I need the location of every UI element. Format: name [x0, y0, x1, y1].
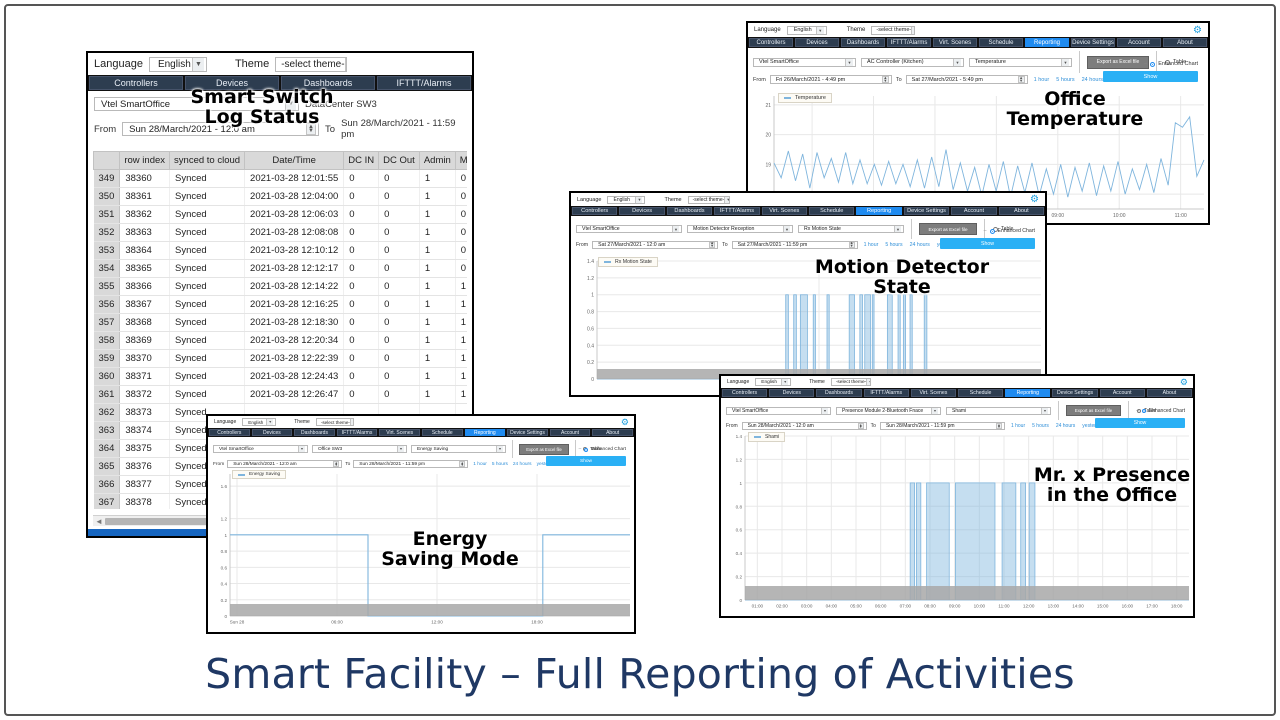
svg-text:1: 1	[591, 293, 594, 299]
legend-label: Energy Saving	[249, 472, 280, 477]
svg-text:19: 19	[765, 162, 771, 168]
col-synced[interactable]: synced to cloud	[170, 152, 245, 170]
tab-schedule[interactable]: Schedule	[422, 429, 463, 436]
quick-5-hours[interactable]: 5 hours	[1056, 77, 1074, 83]
controller-select[interactable]: Vtel SmartOffice ▼	[576, 225, 682, 233]
table-cell: 38377	[120, 476, 170, 494]
table-cell: 0	[344, 188, 379, 206]
chevron-down-icon: ▼	[192, 58, 204, 71]
row-number-cell: 357	[94, 314, 120, 332]
table-cell: 0	[455, 188, 467, 206]
svg-text:17:00: 17:00	[1146, 604, 1158, 609]
table-cell: 2021-03-28 12:04:00	[245, 188, 344, 206]
chart-legend: Temperature	[778, 93, 832, 103]
svg-text:Sun 28: Sun 28	[230, 620, 245, 625]
table-cell: 0	[379, 188, 420, 206]
radio-dot	[990, 229, 995, 234]
table-cell: 0	[344, 386, 379, 404]
energy-window-filters: Vtel SmartOffice ▼ Office SW3 ▼ Energy S…	[208, 437, 634, 472]
table-row[interactable]: 36038371Synced2021-03-28 12:24:430011	[94, 368, 468, 386]
table-cell: 1	[419, 386, 455, 404]
row-number-cell: 366	[94, 476, 120, 494]
svg-text:05:00: 05:00	[850, 604, 862, 609]
to-datetime-input[interactable]: Sat 27/March/2021 - 11:59 pm ▲▼	[732, 241, 858, 249]
svg-text:15:00: 15:00	[1097, 604, 1109, 609]
tab-about[interactable]: About	[1147, 389, 1192, 397]
tab-dashboards[interactable]: Dashboards	[667, 207, 712, 215]
legend-label: Temperature	[795, 95, 826, 101]
svg-text:18:00: 18:00	[1171, 604, 1183, 609]
tab-controllers[interactable]: Controllers	[209, 429, 250, 436]
theme-label: Theme	[809, 379, 825, 385]
tab-account[interactable]: Account	[550, 429, 591, 436]
from-label: From	[726, 423, 738, 429]
from-stepper[interactable]: ▲▼	[709, 242, 715, 248]
table-cell: 1	[455, 350, 467, 368]
metric-select[interactable]: Rx Motion State ▼	[798, 225, 904, 233]
to-value: Sun 28/March/2021 - 11:59 pm	[341, 118, 466, 140]
chart-legend: Shami	[748, 432, 785, 442]
table-row[interactable]: 35038361Synced2021-03-28 12:04:000010	[94, 188, 468, 206]
to-datetime-input[interactable]: Sat 27/March/2021 - 5:49 pm ▲▼	[906, 75, 1028, 84]
table-cell: 38360	[120, 170, 170, 188]
theme-value: -select theme-	[278, 59, 344, 70]
gear-icon[interactable]: ⚙	[1180, 377, 1188, 388]
chart-legend: Energy Saving	[232, 470, 286, 479]
row-number-cell: 352	[94, 224, 120, 242]
col-middle-row[interactable]: Middle Row	[455, 152, 467, 170]
table-cell: 0	[344, 278, 379, 296]
language-label: Language	[727, 379, 749, 385]
tab-devices[interactable]: Devices	[252, 429, 293, 436]
table-row[interactable]: 35538366Synced2021-03-28 12:14:220011	[94, 278, 468, 296]
table-cell: 1	[419, 368, 455, 386]
to-value: Sat 27/March/2021 - 11:59 pm	[735, 242, 808, 248]
tab-account[interactable]: Account	[1117, 38, 1161, 47]
col-datetime[interactable]: Date/Time	[245, 152, 344, 170]
quick-24-hours[interactable]: 24 hours	[1082, 77, 1103, 83]
from-datetime-input[interactable]: Sat 27/March/2021 - 12:0 am ▲▼	[592, 241, 718, 249]
svg-text:14:00: 14:00	[1072, 604, 1084, 609]
table-row[interactable]: 35638367Synced2021-03-28 12:16:250011	[94, 296, 468, 314]
controller-value: Vtel SmartOffice	[729, 408, 768, 414]
to-stepper[interactable]: ▲▼	[459, 461, 465, 467]
table-cell: 0	[344, 242, 379, 260]
to-datetime-input[interactable]: Sun 28/March/2021 - 11:59 pm ▲▼	[880, 422, 1005, 430]
from-datetime-input[interactable]: Sun 28/March/2021 - 12:0 am ▲▼	[742, 422, 867, 430]
divider	[512, 440, 513, 458]
tab-dashboards[interactable]: Dashboards	[841, 38, 885, 47]
table-cell: 0	[379, 350, 420, 368]
temp-selectors-row: Vtel SmartOffice ▼ AC Controller (Kitche…	[753, 51, 1203, 73]
export-excel-button[interactable]: Export as Excel file	[519, 444, 569, 455]
table-cell: 0	[455, 170, 467, 188]
legend-label: Shami	[765, 434, 779, 440]
table-cell: 0	[455, 206, 467, 224]
table-cell: 1	[419, 188, 455, 206]
legend-line-swatch	[784, 97, 791, 99]
table-row[interactable]: 35238363Synced2021-03-28 12:08:080010	[94, 224, 468, 242]
table-cell: 38367	[120, 296, 170, 314]
theme-value: -select theme-	[834, 380, 866, 385]
row-number-cell: 367	[94, 494, 120, 510]
language-select[interactable]: English ▼	[149, 57, 207, 72]
from-datetime-input[interactable]: Fri 26/March/2021 - 4:49 pm ▲▼	[770, 75, 892, 84]
table-cell: Synced	[170, 170, 245, 188]
tab-about[interactable]: About	[592, 429, 633, 436]
table-cell: 38371	[120, 368, 170, 386]
table-cell: 0	[379, 206, 420, 224]
from-label: From	[576, 242, 588, 248]
metric-select[interactable]: Temperature ▼	[969, 58, 1072, 67]
from-value: Sat 27/March/2021 - 12:0 am	[595, 242, 665, 248]
row-number-cell: 349	[94, 170, 120, 188]
quick-24-hours[interactable]: 24 hours	[513, 462, 532, 467]
quick-5-hours[interactable]: 5 hours	[1032, 423, 1049, 429]
col-blank[interactable]	[94, 152, 120, 170]
log-table-head: row index synced to cloud Date/Time DC I…	[94, 152, 468, 170]
tab-schedule[interactable]: Schedule	[979, 38, 1023, 47]
device-select[interactable]: Motion Detector Reception ▼	[687, 225, 793, 233]
table-cell: 1	[455, 386, 467, 404]
svg-text:10:00: 10:00	[1113, 213, 1126, 219]
theme-value: -select theme-	[319, 420, 350, 425]
callout-energy-saving: Energy Saving Mode	[370, 530, 530, 570]
tab-virt-scenes[interactable]: Virt. Scenes	[379, 429, 420, 436]
tab-virt-scenes[interactable]: Virt. Scenes	[762, 207, 807, 215]
export-excel-button[interactable]: Export as Excel file	[1087, 56, 1149, 69]
tab-about[interactable]: About	[1163, 38, 1207, 47]
table-cell: Synced	[170, 332, 245, 350]
to-stepper[interactable]: ▲▼	[996, 423, 1002, 429]
radio-dot	[1150, 62, 1155, 67]
quick-1-hour[interactable]: 1 hour	[1034, 77, 1050, 83]
tab-controllers[interactable]: Controllers	[572, 207, 617, 215]
tab-controllers[interactable]: Controllers	[749, 38, 793, 47]
tab-virt-scenes[interactable]: Virt. Scenes	[911, 389, 956, 397]
tab-ifttt-alarms[interactable]: IFTTT/Alarms	[377, 76, 471, 90]
from-stepper[interactable]: ▲▼	[882, 76, 889, 83]
language-label: Language	[214, 419, 236, 425]
from-label: From	[753, 77, 766, 83]
chevron-down-icon: ▼	[821, 408, 828, 414]
show-button[interactable]: Show	[546, 456, 626, 466]
tab-dashboards[interactable]: Dashboards	[294, 429, 335, 436]
language-value: English	[610, 197, 629, 203]
radio-enhanced-chart[interactable]: – Enhanced Chart	[579, 447, 626, 452]
col-dc-out[interactable]: DC Out	[379, 152, 420, 170]
table-row[interactable]: 35338364Synced2021-03-28 12:10:120010	[94, 242, 468, 260]
motion-window-navbar: ControllersDevicesDashboardsIFTTT/Alarms…	[571, 206, 1045, 216]
from-value: Sun 28/March/2021 - 12:0 am	[745, 423, 814, 429]
tab-reporting[interactable]: Reporting	[465, 429, 506, 436]
table-cell: 2021-03-28 12:26:47	[245, 386, 344, 404]
col-admin[interactable]: Admin	[419, 152, 455, 170]
to-datetime-input[interactable]: Sun 28/March/2021 - 11:59 pm ▲▼	[353, 460, 468, 468]
col-dc-in[interactable]: DC IN	[344, 152, 379, 170]
table-cell: Synced	[170, 296, 245, 314]
chevron-down-icon: ▼	[931, 408, 938, 414]
chevron-down-icon: ▼	[1041, 408, 1048, 414]
language-value: English	[245, 420, 263, 425]
table-cell: Synced	[170, 278, 245, 296]
svg-text:0: 0	[739, 598, 742, 603]
svg-text:0: 0	[224, 614, 227, 619]
tab-about[interactable]: About	[999, 207, 1044, 215]
table-cell: 0	[379, 386, 420, 404]
svg-text:0.8: 0.8	[587, 310, 594, 316]
tab-devices[interactable]: Devices	[619, 207, 664, 215]
table-cell: 0	[344, 260, 379, 278]
table-cell: 38373	[120, 404, 170, 422]
controller-value: Vtel SmartOffice	[216, 447, 254, 452]
tab-ifttt-alarms[interactable]: IFTTT/Alarms	[337, 429, 378, 436]
tab-account[interactable]: Account	[951, 207, 996, 215]
radio-dot	[1142, 409, 1146, 413]
language-select[interactable]: English ▼	[755, 378, 791, 386]
gear-icon[interactable]: ⚙	[1030, 194, 1039, 205]
controller-select[interactable]: Vtel SmartOffice ▼	[726, 407, 831, 415]
svg-text:18:00: 18:00	[531, 620, 543, 625]
tab-ifttt-alarms[interactable]: IFTTT/Alarms	[714, 207, 759, 215]
svg-text:01:00: 01:00	[752, 604, 764, 609]
table-row[interactable]: 35938370Synced2021-03-28 12:22:390011	[94, 350, 468, 368]
metric-select[interactable]: Shami ▼	[946, 407, 1051, 415]
language-value: English	[152, 59, 191, 70]
table-row[interactable]: 35438365Synced2021-03-28 12:12:170010	[94, 260, 468, 278]
tab-account[interactable]: Account	[1100, 389, 1145, 397]
tab-schedule[interactable]: Schedule	[809, 207, 854, 215]
legend-label: Rx Motion State	[615, 259, 652, 265]
svg-text:09:00: 09:00	[1052, 213, 1065, 219]
quick-1-hour[interactable]: 1 hour	[473, 462, 487, 467]
theme-select[interactable]: -select theme- ▼	[871, 26, 915, 35]
table-cell: Synced	[170, 350, 245, 368]
table-cell: 38365	[120, 260, 170, 278]
table-cell: 2021-03-28 12:20:34	[245, 332, 344, 350]
theme-value: -select theme-	[691, 197, 725, 203]
controller-select[interactable]: Vtel SmartOffice ▼	[213, 445, 308, 453]
svg-text:0.8: 0.8	[221, 549, 228, 554]
tab-reporting[interactable]: Reporting	[1005, 389, 1050, 397]
tab-devices[interactable]: Devices	[769, 389, 814, 397]
tab-device-settings[interactable]: Device Settings	[1052, 389, 1097, 397]
metric-select[interactable]: Energy Saving ▼	[411, 445, 506, 453]
svg-text:11:00: 11:00	[998, 604, 1010, 609]
device-select[interactable]: Presence Module 2-Bluetooth Fnace ▼	[836, 407, 941, 415]
table-cell: 2021-03-28 12:16:25	[245, 296, 344, 314]
row-number-cell: 363	[94, 422, 120, 440]
svg-text:0.2: 0.2	[736, 575, 743, 580]
table-cell: 1	[455, 368, 467, 386]
chevron-down-icon: ▼	[298, 446, 305, 452]
quick-24-hours[interactable]: 24 hours	[910, 242, 930, 248]
svg-text:09:00: 09:00	[949, 604, 961, 609]
tab-device-settings[interactable]: Device Settings	[904, 207, 949, 215]
theme-select[interactable]: -select theme- ▼	[275, 57, 347, 72]
table-cell: 0	[379, 368, 420, 386]
svg-text:13:00: 13:00	[1048, 604, 1060, 609]
theme-select[interactable]: -select theme- ▼	[688, 196, 730, 204]
show-button[interactable]: Show	[1103, 71, 1198, 82]
table-cell: 0	[379, 224, 420, 242]
presence-window-navbar: ControllersDevicesDashboardsIFTTT/Alarms…	[721, 388, 1193, 398]
export-excel-button[interactable]: Export as Excel file	[1066, 405, 1121, 416]
presence-window-topbar: Language English ▼ Theme -select theme- …	[721, 376, 1193, 388]
table-cell: 1	[419, 260, 455, 278]
device-select[interactable]: Office SW3 ▼	[312, 445, 407, 453]
table-cell: 38361	[120, 188, 170, 206]
row-number-cell: 353	[94, 242, 120, 260]
tab-reporting[interactable]: Reporting	[1025, 38, 1069, 47]
svg-text:10:00: 10:00	[974, 604, 986, 609]
chevron-down-icon: ▼	[911, 27, 915, 34]
table-cell: 1	[455, 314, 467, 332]
tab-devices[interactable]: Devices	[795, 38, 839, 47]
svg-text:0.4: 0.4	[587, 343, 594, 349]
table-cell: Synced	[170, 260, 245, 278]
radio-chart-label: Enhanced Chart	[591, 447, 626, 452]
legend-line-swatch	[238, 474, 245, 476]
quick-24-hours[interactable]: 24 hours	[1056, 423, 1075, 429]
to-label: To	[896, 77, 902, 83]
export-excel-button[interactable]: Export as Excel file	[919, 223, 977, 235]
table-cell: Synced	[170, 188, 245, 206]
table-cell: 0	[455, 260, 467, 278]
tab-virt-scenes[interactable]: Virt. Scenes	[933, 38, 977, 47]
tab-reporting[interactable]: Reporting	[856, 207, 901, 215]
show-button[interactable]: Show	[940, 238, 1035, 249]
language-select[interactable]: English ▼	[787, 26, 827, 35]
from-value: Sun 28/March/2021 - 12:0 am	[230, 462, 296, 467]
svg-text:0.8: 0.8	[736, 504, 743, 509]
quick-1-hour[interactable]: 1 hour	[1011, 423, 1025, 429]
theme-select[interactable]: -select theme- ▼	[831, 378, 871, 386]
table-cell: 1	[455, 296, 467, 314]
radio-enhanced-chart[interactable]: – Enhanced Chart	[984, 228, 1035, 234]
to-stepper[interactable]: ▲▼	[1018, 76, 1025, 83]
radio-enhanced-chart[interactable]: – Enhanced Chart	[1144, 61, 1198, 67]
table-row[interactable]: 34938360Synced2021-03-28 12:01:550010	[94, 170, 468, 188]
tab-device-settings[interactable]: Device Settings	[1071, 38, 1115, 47]
table-cell: 38364	[120, 242, 170, 260]
table-row[interactable]: 36138372Synced2021-03-28 12:26:470011	[94, 386, 468, 404]
table-cell: 0	[344, 314, 379, 332]
device-value: Office SW3	[315, 447, 342, 452]
theme-select[interactable]: -select theme- ▼	[316, 418, 354, 426]
table-cell: 0	[379, 314, 420, 332]
scroll-left-icon[interactable]: ◄	[95, 517, 103, 526]
row-number-cell: 360	[94, 368, 120, 386]
table-row[interactable]: 35738368Synced2021-03-28 12:18:300011	[94, 314, 468, 332]
table-cell: Synced	[170, 368, 245, 386]
table-cell: 2021-03-28 12:12:17	[245, 260, 344, 278]
table-row[interactable]: 35838369Synced2021-03-28 12:20:340011	[94, 332, 468, 350]
to-stepper[interactable]: ▲▼	[849, 242, 855, 248]
table-cell: 0	[379, 296, 420, 314]
device-select[interactable]: AC Controller (Kitchen) ▼	[861, 58, 964, 67]
language-select[interactable]: English ▼	[607, 196, 645, 204]
chevron-down-icon: ▼	[496, 446, 503, 452]
table-cell: 38366	[120, 278, 170, 296]
table-cell: 0	[455, 242, 467, 260]
motion-window-topbar: Language English ▼ Theme -select theme- …	[571, 193, 1045, 206]
radio-enhanced-chart[interactable]: – Enhanced Chart	[1136, 408, 1185, 414]
controller-value: Vtel SmartOffice	[579, 226, 620, 232]
tab-schedule[interactable]: Schedule	[958, 389, 1003, 397]
from-datetime-input[interactable]: Sun 28/March/2021 - 12:0 am ▲▼	[227, 460, 342, 468]
show-button[interactable]: Show	[1095, 418, 1185, 428]
svg-text:12:00: 12:00	[1023, 604, 1035, 609]
chevron-down-icon: ▼	[397, 446, 404, 452]
chevron-down-icon: ▼	[724, 197, 729, 203]
quick-5-hours[interactable]: 5 hours	[492, 462, 508, 467]
svg-text:08:00: 08:00	[924, 604, 936, 609]
legend-line-swatch	[754, 436, 761, 438]
language-value: English	[790, 27, 812, 33]
svg-text:0.6: 0.6	[221, 565, 228, 570]
quick-5-hours[interactable]: 5 hours	[885, 242, 902, 248]
tab-ifttt-alarms[interactable]: IFTTT/Alarms	[864, 389, 909, 397]
svg-text:0.6: 0.6	[736, 528, 743, 533]
svg-text:0.2: 0.2	[221, 598, 228, 603]
gear-icon[interactable]: ⚙	[621, 417, 629, 428]
row-number-cell: 351	[94, 206, 120, 224]
svg-text:12:00: 12:00	[431, 620, 443, 625]
from-stepper[interactable]: ▲▼	[858, 423, 864, 429]
tab-dashboards[interactable]: Dashboards	[816, 389, 861, 397]
tab-device-settings[interactable]: Device Settings	[507, 429, 548, 436]
svg-text:04:00: 04:00	[826, 604, 838, 609]
tab-controllers[interactable]: Controllers	[722, 389, 767, 397]
theme-label: Theme	[847, 27, 866, 33]
theme-label: Theme	[664, 197, 681, 203]
row-number-cell: 362	[94, 404, 120, 422]
metric-value: Shami	[949, 408, 966, 414]
svg-text:1.6: 1.6	[221, 484, 228, 489]
svg-text:1.4: 1.4	[736, 434, 743, 439]
chevron-down-icon: ▼	[866, 379, 871, 385]
language-select[interactable]: English ▼	[242, 418, 276, 426]
presence-window-filters: Vtel SmartOffice ▼ Presence Module 2-Blu…	[721, 398, 1193, 434]
tab-controllers[interactable]: Controllers	[89, 76, 183, 90]
svg-text:03:00: 03:00	[801, 604, 813, 609]
chevron-down-icon: ▼	[345, 58, 348, 71]
log-table-header-row: row index synced to cloud Date/Time DC I…	[94, 152, 468, 170]
chevron-down-icon: ▼	[953, 59, 961, 66]
gear-icon[interactable]: ⚙	[1193, 25, 1202, 36]
table-row[interactable]: 35138362Synced2021-03-28 12:06:030010	[94, 206, 468, 224]
quick-1-hour[interactable]: 1 hour	[864, 242, 879, 248]
col-row-index[interactable]: row index	[120, 152, 170, 170]
svg-text:06:00: 06:00	[875, 604, 887, 609]
row-number-cell: 365	[94, 458, 120, 476]
chevron-down-icon: ▼	[350, 419, 354, 425]
table-cell: 1	[419, 296, 455, 314]
from-stepper[interactable]: ▲▼	[333, 461, 339, 467]
table-cell: Synced	[170, 224, 245, 242]
table-cell: 0	[344, 206, 379, 224]
theme-label: Theme	[294, 419, 310, 425]
svg-text:1: 1	[739, 481, 742, 486]
language-label: Language	[754, 27, 781, 33]
controller-select[interactable]: Vtel SmartOffice ▼	[753, 58, 856, 67]
table-cell: 38378	[120, 494, 170, 510]
metric-value: Rx Motion State	[801, 226, 841, 232]
metric-value: Energy Saving	[414, 447, 448, 452]
window-energy-saving: Language English ▼ Theme -select theme- …	[206, 414, 636, 634]
tab-ifttt-alarms[interactable]: IFTTT/Alarms	[887, 38, 931, 47]
